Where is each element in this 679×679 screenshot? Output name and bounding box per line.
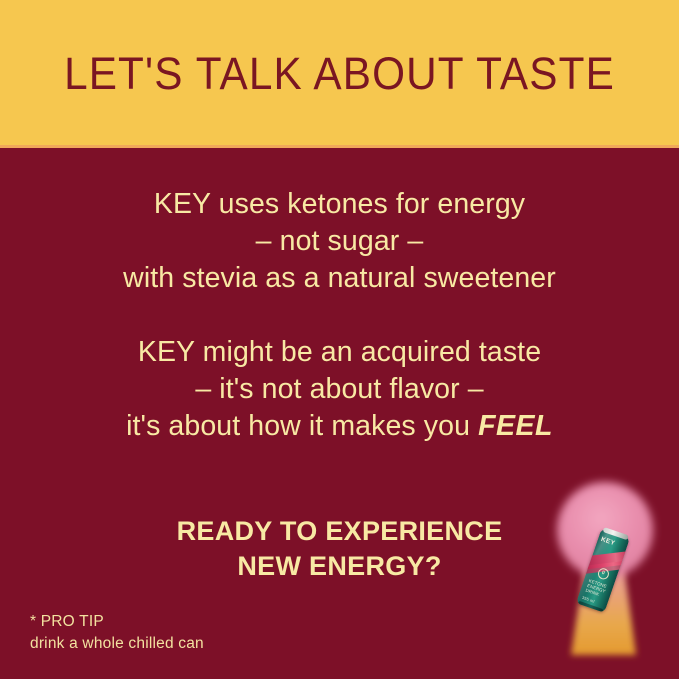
paragraph-2-emphasis-feel: FEEL [478, 410, 553, 442]
header-divider-rule [0, 145, 679, 148]
paragraph-2-line-3: it's about how it makes you FEEL [0, 408, 679, 445]
page-title: LET'S TALK ABOUT TASTE [20, 48, 658, 100]
pro-tip-label: * PRO TIP [30, 611, 204, 633]
paragraph-1-line-3: with stevia as a natural sweetener [0, 260, 679, 297]
pro-tip-text: drink a whole chilled can [30, 633, 204, 655]
paragraph-1-line-2: – not sugar – [0, 223, 679, 260]
paragraph-1-line-1: KEY uses ketones for energy [0, 186, 679, 223]
body-copy: KEY uses ketones for energy – not sugar … [0, 186, 679, 445]
paragraph-2-line-2: – it's not about flavor – [0, 371, 679, 408]
can-wordmark: KEY [600, 536, 616, 547]
paragraph-ketones: KEY uses ketones for energy – not sugar … [0, 186, 679, 297]
paragraph-2-line-1: KEY might be an acquired taste [0, 334, 679, 371]
paragraph-2-line-3-prefix: it's about how it makes you [126, 410, 478, 442]
paragraph-acquired-taste: KEY might be an acquired taste – it's no… [0, 334, 679, 445]
pro-tip-note: * PRO TIP drink a whole chilled can [30, 611, 204, 655]
poster-canvas: LET'S TALK ABOUT TASTE KEY uses ketones … [0, 0, 679, 679]
